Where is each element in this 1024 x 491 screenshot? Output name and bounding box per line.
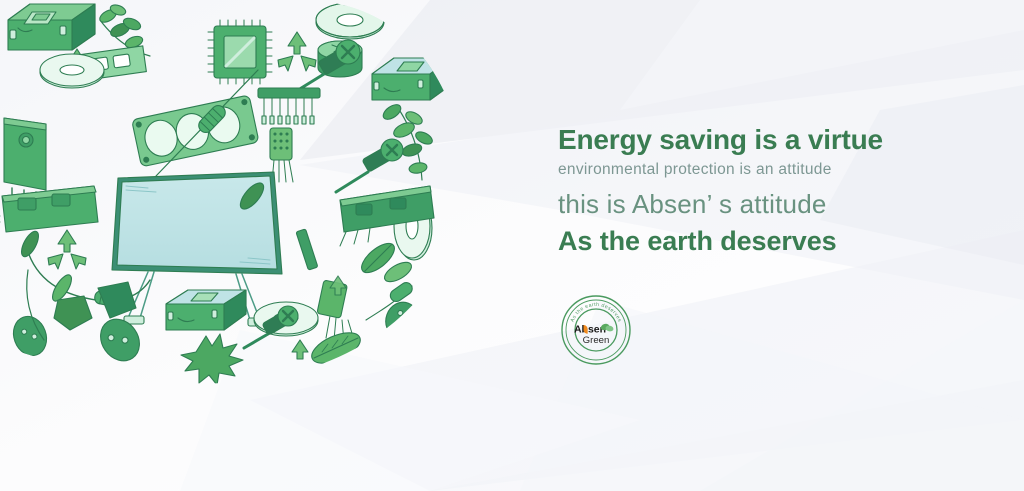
absen-green-badge: As the earth deserves Absen Green: [560, 294, 632, 366]
maple-leaf: [181, 334, 243, 385]
circuit-board: [0, 186, 98, 232]
single-leaf: [307, 326, 364, 369]
power-transistor: [220, 104, 258, 156]
badge-brand-text: Absen: [574, 324, 606, 336]
capacitor: [381, 298, 423, 343]
recycle-symbol: [278, 32, 316, 71]
slogan-line-1: Energy saving is a virtue: [558, 124, 978, 156]
slogan-block: Energy saving is a virtue environmental …: [558, 124, 978, 257]
slogan-line-4: As the earth deserves: [558, 226, 978, 257]
toolcase-with-recycle-symbol: [372, 58, 452, 100]
recycle-symbol: [292, 340, 308, 359]
slogan-line-3: this is Absen’ s attitude: [558, 189, 978, 220]
toolcase-with-recycle-symbol: [166, 290, 246, 330]
recycle-symbol: [48, 230, 86, 269]
pin-header: [296, 229, 318, 270]
badge-green-text: Green: [583, 335, 610, 346]
screw: [336, 139, 403, 192]
slogan-line-2: environmental protection is an attitude: [558, 161, 978, 179]
toolcase-with-recycle-symbol: [8, 4, 95, 50]
cpu-chip: [208, 20, 272, 84]
absen-green-banner: Energy saving is a virtue environmental …: [0, 0, 1024, 491]
green-electronics-collage: [0, 0, 500, 400]
toroid-coil: [316, 3, 384, 39]
toroid-coil: [40, 54, 104, 88]
single-leaf: [18, 229, 42, 259]
pin-header: [258, 88, 320, 124]
transformer: [8, 312, 52, 361]
